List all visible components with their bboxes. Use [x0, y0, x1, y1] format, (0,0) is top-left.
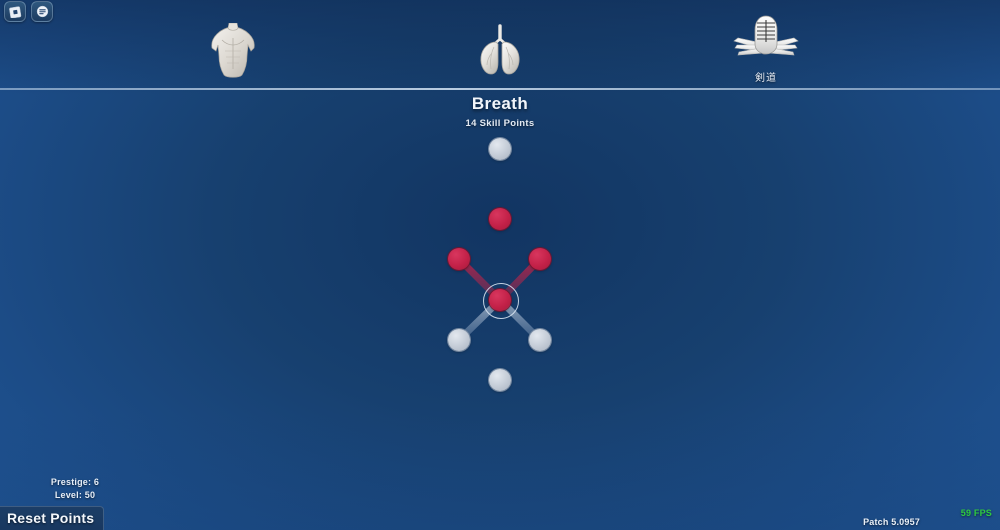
skill-node-upper[interactable] — [489, 208, 511, 230]
skill-points-label: 14 Skill Points — [0, 118, 1000, 129]
patch-version-label: Patch 5.0957 — [863, 517, 920, 527]
skill-node-upper-right[interactable] — [529, 248, 551, 270]
page-title: Breath — [0, 94, 1000, 114]
reset-points-button[interactable]: Reset Points — [0, 506, 104, 530]
level-label: Level: 50 — [0, 489, 150, 502]
roblox-logo-icon[interactable] — [4, 1, 26, 22]
skill-node-top[interactable] — [489, 138, 511, 160]
hud-top-left-buttons — [4, 1, 53, 22]
prestige-label: Prestige: 6 — [0, 476, 150, 489]
skill-node-lower-right[interactable] — [529, 329, 551, 351]
skill-node-upper-left[interactable] — [448, 248, 470, 270]
skill-tree — [0, 0, 1000, 530]
chat-icon[interactable] — [31, 1, 53, 22]
tree-header: Breath 14 Skill Points — [0, 94, 1000, 129]
skill-node-lower-left[interactable] — [448, 329, 470, 351]
skill-node-center[interactable] — [489, 289, 511, 311]
skill-node-bottom[interactable] — [489, 369, 511, 391]
skill-tree-links — [0, 0, 1000, 530]
fps-counter: 59 FPS — [961, 508, 992, 518]
player-stats: Prestige: 6 Level: 50 — [0, 476, 150, 502]
